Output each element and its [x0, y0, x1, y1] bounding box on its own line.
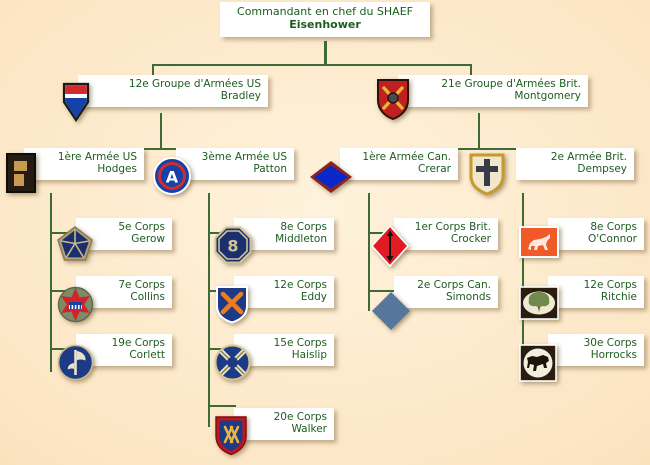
node-title-line: 2e Armée Brit. — [523, 151, 627, 163]
node-8e-corps-brit[interactable]: 8e Corps O'Connor — [548, 218, 644, 250]
21st-army-group-crossed-swords-icon — [373, 76, 413, 122]
connector-ag12-down — [160, 113, 162, 148]
node-commander-line: Crerar — [347, 163, 451, 175]
node-title-line: 1ère Armée Can. — [347, 151, 451, 163]
node-title-line: 30e Corps — [555, 337, 637, 349]
node-commander-line: Hodges — [31, 163, 137, 175]
second-british-army-cross-shield-icon — [468, 152, 506, 196]
node-first-us-army[interactable]: 1ère Armée US Hodges — [24, 148, 144, 180]
second-canadian-corps-diamond-icon — [370, 290, 412, 332]
node-commander-line: Dempsey — [523, 163, 627, 175]
svg-text:A: A — [166, 168, 179, 187]
node-title-line: 21e Groupe d'Armées Brit. — [405, 78, 581, 90]
node-commander-line: Montgomery — [405, 90, 581, 102]
node-commander-line: Gerow — [83, 233, 165, 245]
svg-text:8: 8 — [227, 237, 238, 256]
first-british-corps-spear-diamond-icon — [370, 224, 410, 268]
viii-british-corps-white-horse-icon — [519, 226, 559, 258]
xv-corps-circle-x-icon — [214, 344, 251, 381]
node-commander-line: Collins — [83, 291, 165, 303]
node-commander-line: Horrocks — [555, 349, 637, 361]
connector-root-down — [324, 41, 327, 64]
node-title-line: 5e Corps — [83, 221, 165, 233]
connector-root-horizontal — [152, 64, 472, 66]
node-commander-line: Walker — [241, 423, 327, 435]
node-commander-line: Corlett — [83, 349, 165, 361]
node-title-line: 7e Corps — [83, 279, 165, 291]
node-title-line: 12e Groupe d'Armées US — [85, 78, 261, 90]
node-commander-line: Ritchie — [555, 291, 637, 303]
viii-corps-octagon-eight-icon: 8 — [214, 226, 252, 264]
connector-a1us-trunk — [50, 193, 52, 372]
node-commander-line: Haislip — [241, 349, 327, 361]
node-12th-army-group[interactable]: 12e Groupe d'Armées US Bradley — [78, 75, 268, 107]
xii-corps-shield-x-icon — [214, 284, 250, 324]
xx-corps-shield-xx-icon — [214, 414, 248, 456]
node-title-line: 19e Corps — [83, 337, 165, 349]
node-second-british-army[interactable]: 2e Armée Brit. Dempsey — [516, 148, 634, 180]
vii-corps-seven-star-icon — [57, 286, 94, 323]
node-30e-corps-brit[interactable]: 30e Corps Horrocks — [548, 334, 644, 366]
connector-ag21-down — [478, 113, 480, 148]
node-title-line: 3ème Armée US — [183, 151, 287, 163]
xii-british-corps-oak-tree-icon — [519, 286, 559, 320]
node-commander-line: O'Connor — [555, 233, 637, 245]
node-title-line: 1er Corps Brit. — [401, 221, 491, 233]
node-commander-line: Simonds — [401, 291, 491, 303]
node-title-line: 8e Corps — [241, 221, 327, 233]
node-third-us-army[interactable]: 3ème Armée US Patton — [176, 148, 294, 180]
xix-corps-axe-icon — [57, 344, 94, 381]
node-title-line: 20e Corps — [241, 411, 327, 423]
third-us-army-circle-a-icon: A — [152, 156, 192, 196]
node-commander-line: Bradley — [85, 90, 261, 102]
node-21st-army-group[interactable]: 21e Groupe d'Armées Brit. Montgomery — [398, 75, 588, 107]
connector-a2brit-trunk — [522, 193, 524, 369]
node-12e-corps-brit[interactable]: 12e Corps Ritchie — [548, 276, 644, 308]
xxx-british-corps-boar-icon — [519, 344, 557, 382]
node-title-line: 12e Corps — [241, 279, 327, 291]
node-commander-line: Eisenhower — [230, 19, 420, 32]
12th-army-group-shield-icon — [56, 78, 96, 124]
node-commander-line: Patton — [183, 163, 287, 175]
node-title-line: 15e Corps — [241, 337, 327, 349]
connector-a3us-trunk — [208, 193, 210, 427]
node-title-line: 2e Corps Can. — [401, 279, 491, 291]
first-canadian-army-diamond-icon — [308, 159, 354, 195]
node-commander-line: Crocker — [401, 233, 491, 245]
v-corps-pentagon-icon — [56, 225, 94, 263]
connector-c20-branch — [208, 405, 236, 407]
node-title-line: 8e Corps — [555, 221, 637, 233]
node-commander-line: Middleton — [241, 233, 327, 245]
first-us-army-a-patch-icon — [5, 152, 37, 194]
node-commander-line: Eddy — [241, 291, 327, 303]
node-title-line: 1ère Armée US — [31, 151, 137, 163]
org-chart-canvas: Commandant en chef du SHAEF Eisenhower 1… — [0, 0, 650, 465]
node-title-line: 12e Corps — [555, 279, 637, 291]
node-first-canadian-army[interactable]: 1ère Armée Can. Crerar — [340, 148, 458, 180]
node-shaef-commander[interactable]: Commandant en chef du SHAEF Eisenhower — [220, 2, 430, 37]
node-20e-corps[interactable]: 20e Corps Walker — [234, 408, 334, 440]
